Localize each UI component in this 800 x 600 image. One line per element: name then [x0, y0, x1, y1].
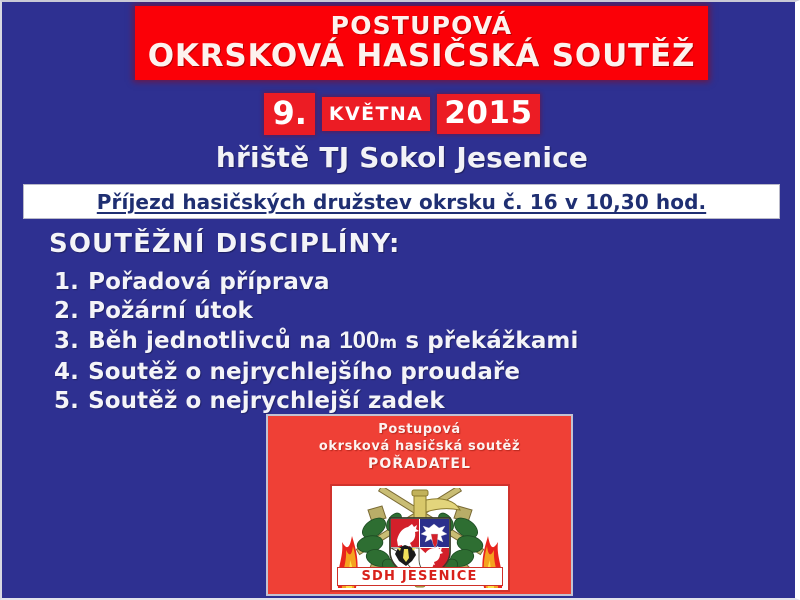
sdh-badge-caption: SDH JESENICE: [337, 567, 503, 586]
list-item: 1. Pořadová příprava: [54, 268, 754, 297]
title-line-1: POSTUPOVÁ: [331, 13, 513, 39]
organiser-logo-card: Postupová okrsková hasičská soutěž POŘAD…: [266, 414, 573, 596]
date-year: 2015: [437, 94, 539, 134]
list-item-label: Požární útok: [88, 298, 253, 324]
list-item: 2. Požární útok: [54, 297, 754, 326]
list-item-unit: m: [379, 333, 397, 353]
list-item-number: 3.: [54, 327, 80, 356]
list-item-number: 2.: [54, 297, 80, 326]
organiser-logo-line-2: okrsková hasičská soutěž: [268, 438, 571, 455]
organiser-logo-line-1: Postupová: [268, 422, 571, 438]
arrival-notice-text: Příjezd hasičských družstev okrsku č. 16…: [97, 190, 706, 214]
list-item: 5. Soutěž o nejrychlejší zadek: [54, 387, 754, 416]
list-item-number: 4.: [54, 358, 80, 387]
list-item-label-pre: Běh jednotlivců na: [88, 328, 331, 354]
disciplines-heading: SOUTĚŽNÍ DISCIPLÍNY:: [49, 229, 401, 259]
list-item-label-post: s překážkami: [405, 328, 578, 354]
date-day: 9.: [264, 93, 314, 135]
list-item-number: 5.: [54, 387, 80, 416]
list-item-label: Soutěž o nejrychlejší zadek: [88, 388, 445, 414]
organiser-logo-heading: Postupová okrsková hasičská soutěž POŘAD…: [268, 416, 571, 474]
arrival-notice-box: Příjezd hasičských družstev okrsku č. 16…: [23, 184, 780, 219]
sdh-badge-inner: SDH JESENICE: [334, 488, 506, 588]
poster-canvas: POSTUPOVÁ OKRSKOVÁ HASIČSKÁ SOUTĚŽ 9. KV…: [0, 0, 800, 600]
list-item-label: Pořadová příprava: [88, 269, 330, 295]
date-month: KVĚTNA: [322, 97, 430, 131]
title-line-2: OKRSKOVÁ HASIČSKÁ SOUTĚŽ: [148, 39, 696, 73]
list-item-number: 1.: [54, 268, 80, 297]
list-item: 4. Soutěž o nejrychlejšího proudaře: [54, 358, 754, 387]
disciplines-list: 1. Pořadová příprava 2. Požární útok 3. …: [54, 268, 754, 416]
list-item-label: Soutěž o nejrychlejšího proudaře: [88, 359, 520, 385]
venue-line: hřiště TJ Sokol Jesenice: [2, 141, 800, 174]
title-banner: POSTUPOVÁ OKRSKOVÁ HASIČSKÁ SOUTĚŽ: [135, 6, 708, 80]
sdh-badge: SDH JESENICE: [330, 484, 510, 592]
list-item-distance: 100: [339, 327, 379, 354]
organiser-logo-line-3: POŘADATEL: [268, 455, 571, 474]
date-row: 9. KVĚTNA 2015: [2, 92, 800, 136]
list-item: 3. Běh jednotlivců na 100m s překážkami: [54, 326, 754, 358]
